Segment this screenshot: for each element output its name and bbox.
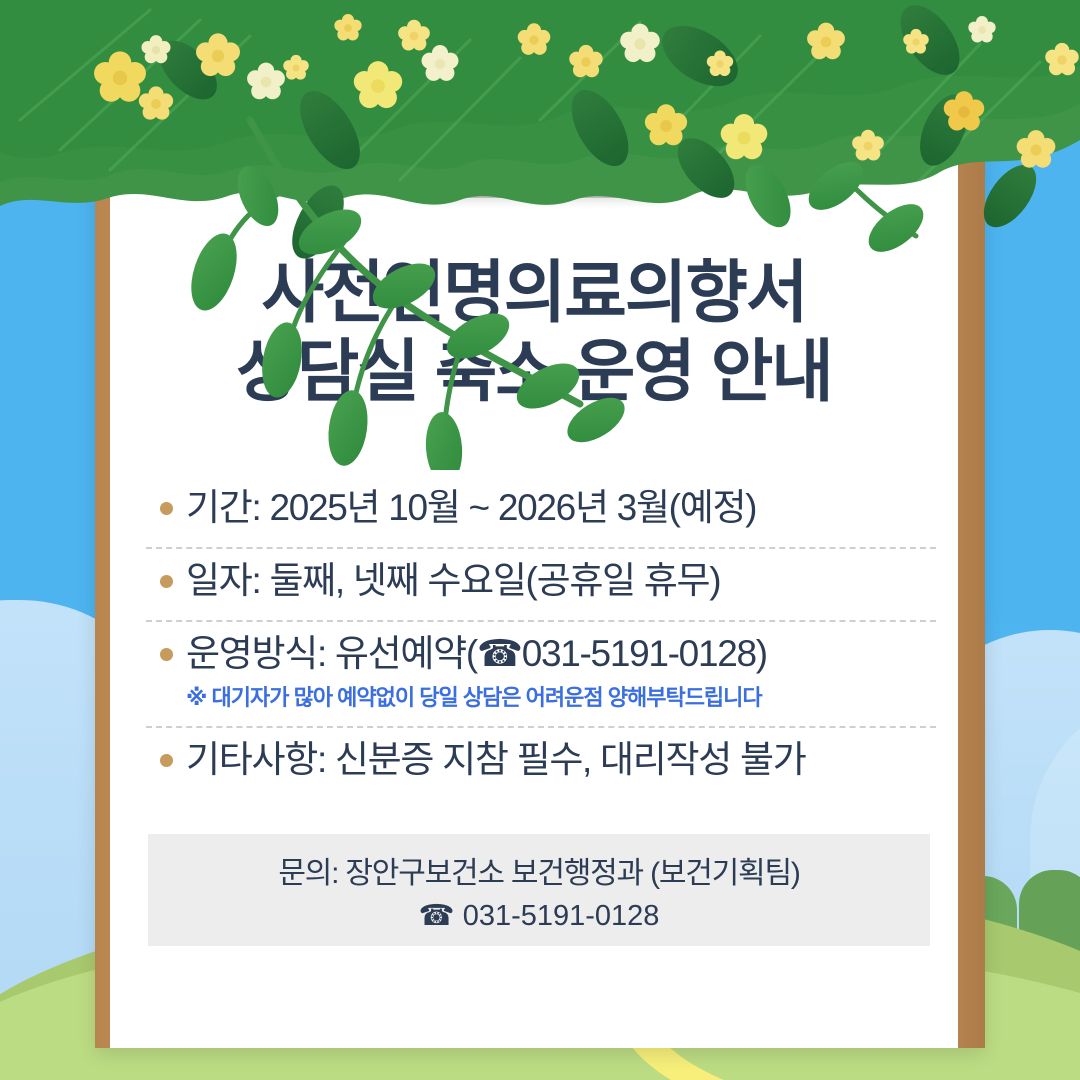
bullet-text-method: 운영방식: 유선예약(☎031-5191-0128) xyxy=(186,630,936,679)
list-item: 기간: 2025년 10월 ~ 2026년 3월(예정) xyxy=(146,478,936,543)
divider xyxy=(146,547,936,549)
contact-box: 문의: 장안구보건소 보건행정과 (보건기획팀) ☎ 031-5191-0128 xyxy=(148,834,930,946)
bullet-text-period: 기간: 2025년 10월 ~ 2026년 3월(예정) xyxy=(186,484,936,533)
list-item: 일자: 둘째, 넷째 수요일(공휴일 휴무) xyxy=(146,551,936,616)
poster-content: 사전연명의료의향서 상담실 축소 운영 안내 기간: 2025년 10월 ~ 2… xyxy=(110,162,958,1048)
bullet-dot-icon xyxy=(160,502,173,515)
page-title: 사전연명의료의향서 상담실 축소 운영 안내 xyxy=(110,254,958,412)
contact-phone: ☎ 031-5191-0128 xyxy=(419,898,660,933)
title-line-1: 사전연명의료의향서 xyxy=(261,255,806,331)
list-item: 기타사항: 신분증 지참 필수, 대리작성 불가 xyxy=(146,730,936,795)
list-item: 운영방식: 유선예약(☎031-5191-0128) ※ 대기자가 많아 예약없… xyxy=(146,624,936,723)
bullet-dot-icon xyxy=(160,575,173,588)
bullet-text-other: 기타사항: 신분증 지참 필수, 대리작성 불가 xyxy=(186,736,936,785)
divider xyxy=(146,726,936,728)
poster-root: 사전연명의료의향서 상담실 축소 운영 안내 기간: 2025년 10월 ~ 2… xyxy=(0,0,1080,1080)
bullet-note-reservation: ※ 대기자가 많아 예약없이 당일 상담은 어려운점 양해부탁드립니다 xyxy=(186,680,936,712)
divider xyxy=(146,620,936,622)
bullet-list: 기간: 2025년 10월 ~ 2026년 3월(예정) 일자: 둘째, 넷째 … xyxy=(146,478,936,795)
contact-department: 문의: 장안구보건소 보건행정과 (보건기획팀) xyxy=(278,848,799,892)
bullet-dot-icon xyxy=(160,648,173,661)
bullet-dot-icon xyxy=(160,754,173,767)
bullet-text-date: 일자: 둘째, 넷째 수요일(공휴일 휴무) xyxy=(186,557,936,606)
title-line-2: 상담실 축소 운영 안내 xyxy=(110,333,958,412)
